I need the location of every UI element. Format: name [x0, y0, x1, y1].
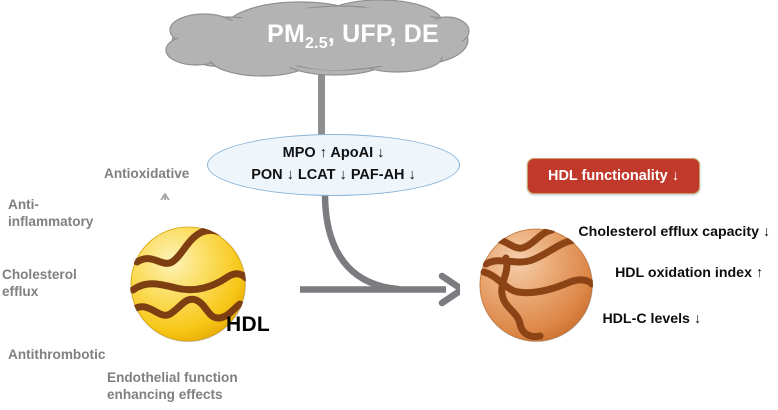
outcome-hdl-c-levels: HDL-C levels ↓: [602, 311, 709, 327]
arrow-cholesterol-efflux: [78, 283, 130, 293]
arrow-anti-inflammatory: [105, 219, 141, 243]
main-transition-arrow: [266, 276, 462, 303]
outcome-cholesterol-efflux-capacity: Cholesterol efflux capacity ↓: [578, 224, 778, 240]
function-label-antioxidative: Antioxidative: [104, 165, 189, 182]
healthy-hdl-strands: [133, 230, 246, 318]
enzyme-oval-line-2: PON ↓ LCAT ↓ PAF-AH ↓: [207, 167, 460, 183]
cloud-label-prefix: PM: [267, 20, 305, 48]
arrow-antithrombotic: [105, 327, 140, 352]
figure-canvas: PM2.5, UFP, DE MPO ↑ ApoAI ↓ PON ↓ LCAT …: [0, 0, 778, 410]
hdl-functionality-badge-label: HDL functionality ↓: [548, 168, 679, 184]
hdl-functionality-badge[interactable]: HDL functionality ↓: [527, 158, 700, 194]
function-label-endothelial-function: Endothelial function enhancing effects: [107, 369, 238, 404]
cloud-label-suffix: , UFP, DE: [328, 20, 439, 48]
arrow-antioxidative: [160, 194, 170, 225]
outcome-hdl-oxidation-index: HDL oxidation index ↑: [615, 265, 771, 281]
function-label-cholesterol-efflux: Cholesterol efflux: [2, 266, 77, 301]
arrow-endothelial: [160, 343, 170, 366]
cloud-label: PM2.5, UFP, DE: [238, 20, 468, 53]
enzyme-oval: [207, 134, 460, 196]
oval-to-arrow-curve: [325, 194, 398, 289]
hdl-particle-caption: HDL: [226, 313, 270, 337]
cloud-to-oval-stem: [318, 62, 325, 140]
cloud-label-subscript: 2.5: [305, 35, 328, 52]
dysfunctional-hdl-particle: [480, 229, 592, 341]
dysfunctional-hdl-strands: [484, 230, 594, 337]
function-label-anti-inflammatory: Anti- inflammatory: [8, 196, 93, 231]
function-label-antithrombotic: Antithrombotic: [8, 346, 105, 363]
enzyme-oval-line-1: MPO ↑ ApoAI ↓: [207, 145, 460, 161]
cloud-and-connectors: [0, 0, 778, 410]
